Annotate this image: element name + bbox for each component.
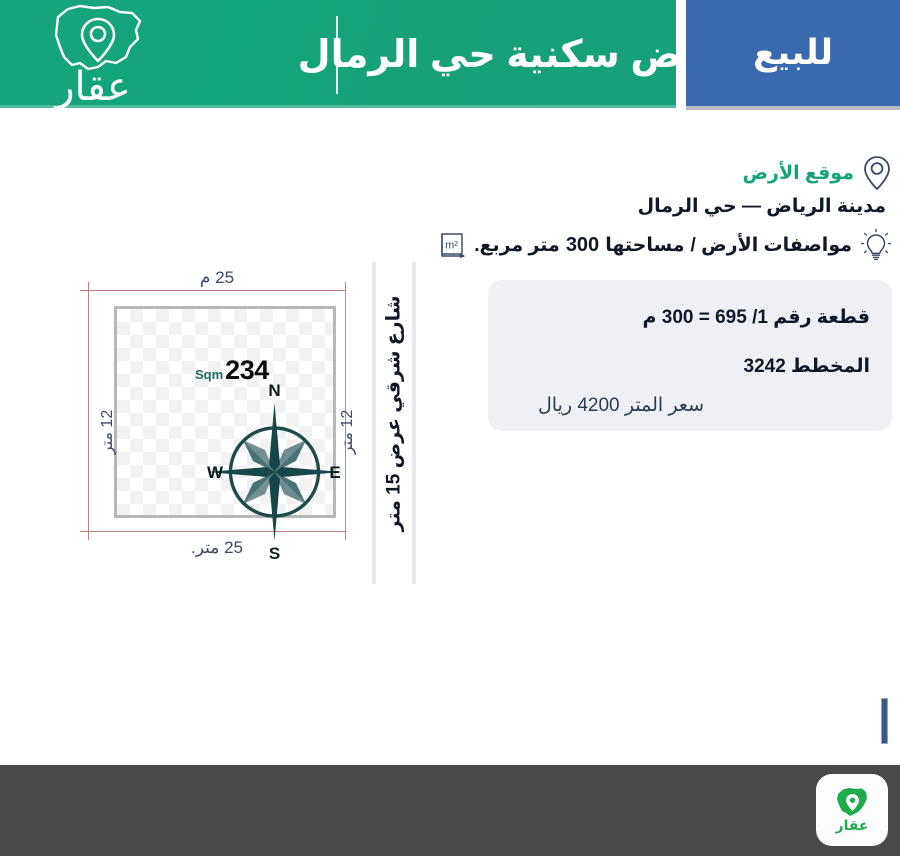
tick-mark xyxy=(345,282,346,298)
dimension-top-label: 25 م xyxy=(88,268,346,288)
plot-rectangle: 234 Sqm xyxy=(114,306,336,518)
specs-unit: متر مربع. xyxy=(474,234,560,257)
plan-number-line: المخطط 3242 xyxy=(510,355,870,378)
app-badge-label: عقار xyxy=(836,818,869,833)
location-value: مدينة الرياض — حي الرمال xyxy=(472,195,892,218)
street-edge-line xyxy=(412,262,416,584)
svg-text:m²: m² xyxy=(445,240,458,252)
app-badge[interactable]: عقار xyxy=(816,774,888,846)
dimension-bottom-label: 25 متر. xyxy=(88,538,346,558)
specs-value: 300 xyxy=(566,234,599,257)
street-edge-line xyxy=(372,262,376,584)
compass-rose-icon: N S E W xyxy=(207,377,342,562)
specs-text: مواصفات الأرض / مساحتها 300 متر مربع. xyxy=(474,234,852,257)
status-badge[interactable]: للبيع xyxy=(686,0,900,106)
location-row: موقع الأرض xyxy=(472,155,892,191)
lightbulb-icon xyxy=(860,228,892,262)
compass-west-label: W xyxy=(207,463,224,482)
land-diagram: 25 م 234 Sqm xyxy=(70,262,440,592)
page-title: ارض سكنية حي الرمال xyxy=(350,14,664,94)
status-badge-label: للبيع xyxy=(753,33,833,73)
dimension-right-label: 12 متر xyxy=(337,397,357,467)
logo-wordmark: عقار xyxy=(28,64,158,110)
plot-area-number: 234 xyxy=(225,357,269,384)
tick-mark xyxy=(80,531,96,532)
price-per-meter-line: سعر المتر 4200 ريال xyxy=(510,394,870,417)
saudi-map-pin-icon xyxy=(835,787,869,817)
dimension-left-label: 12 متر xyxy=(97,397,117,467)
bottom-bar: عقار xyxy=(0,765,900,856)
specs-row: مواصفات الأرض / مساحتها 300 متر مربع. m² xyxy=(472,228,892,262)
tick-mark xyxy=(80,290,96,291)
square-meter-icon: m² xyxy=(438,231,466,259)
header-green-banner: عقار ارض سكنية حي الرمال xyxy=(0,0,676,108)
location-pin-icon xyxy=(862,155,892,191)
compass-north-label: N xyxy=(268,381,280,400)
street-label: شارع شرقي عرض 15 متر xyxy=(383,264,406,564)
plot-number-line: قطعة رقم 1/ 695 = 300 م xyxy=(510,306,870,329)
listing-page: عقار ارض سكنية حي الرمال للبيع موقع الأر… xyxy=(0,0,900,856)
right-edge-scroll-indicator[interactable] xyxy=(881,698,888,744)
brand-logo[interactable]: عقار xyxy=(28,2,158,114)
plot-dimension-area: 234 Sqm xyxy=(88,290,346,532)
street-strip: شارع شرقي عرض 15 متر xyxy=(372,262,418,584)
details-card: قطعة رقم 1/ 695 = 300 م المخطط 3242 سعر … xyxy=(488,280,892,431)
specs-label: مواصفات الأرض / xyxy=(691,234,852,257)
plot-area-unit: Sqm xyxy=(195,368,223,381)
plot-area-label: 234 Sqm xyxy=(195,357,269,384)
location-label: موقع الأرض xyxy=(742,162,854,185)
info-panel: موقع الأرض مدينة الرياض — حي الرمال مواص… xyxy=(472,155,892,431)
specs-word: مساحتها xyxy=(605,234,684,257)
